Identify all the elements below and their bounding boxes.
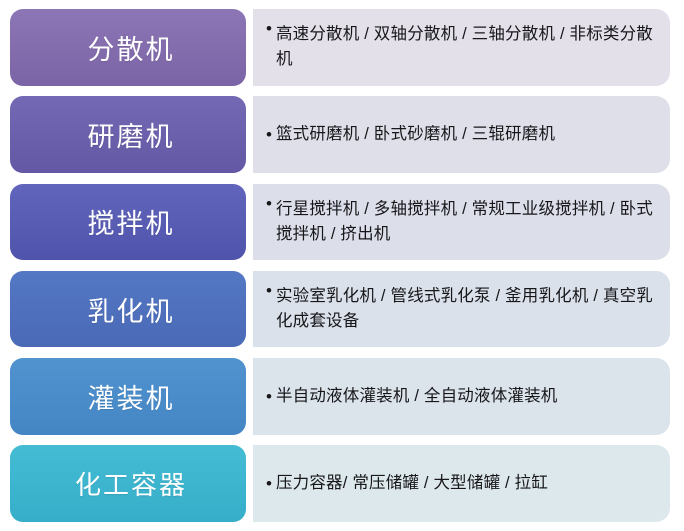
category-label-3: 搅拌机 — [88, 202, 175, 241]
category-label-6: 化工容器 — [75, 465, 187, 502]
row-spacer — [246, 445, 253, 522]
description-panel-3: • 行星搅拌机 / 多轴搅拌机 / 常规工业级搅拌机 / 卧式搅拌机 / 挤出机 — [253, 184, 670, 261]
row-spacer — [246, 184, 253, 261]
description-text-5: 半自动液体灌装机 / 全自动液体灌装机 — [276, 384, 656, 409]
description-text-3: 行星搅拌机 / 多轴搅拌机 / 常规工业级搅拌机 / 卧式搅拌机 / 挤出机 — [276, 197, 656, 247]
description-panel-4: • 实验室乳化机 / 管线式乳化泵 / 釜用乳化机 / 真空乳化成套设备 — [253, 271, 670, 348]
row-spacer — [246, 9, 253, 86]
category-row: 化工容器 • 压力容器/ 常压储罐 / 大型储罐 / 拉缸 — [10, 445, 670, 522]
category-row: 灌装机 • 半自动液体灌装机 / 全自动液体灌装机 — [10, 358, 670, 435]
row-spacer — [246, 96, 253, 173]
category-label-4: 乳化机 — [88, 290, 175, 329]
category-pill-4[interactable]: 乳化机 — [10, 271, 246, 348]
row-spacer — [246, 358, 253, 435]
category-label-2: 研磨机 — [88, 115, 175, 154]
bullet-icon: • — [266, 20, 276, 37]
description-panel-2: • 篮式研磨机 / 卧式砂磨机 / 三辊研磨机 — [253, 96, 670, 173]
description-panel-1: • 高速分散机 / 双轴分散机 / 三轴分散机 / 非标类分散机 — [253, 9, 670, 86]
category-row: 乳化机 • 实验室乳化机 / 管线式乳化泵 / 釜用乳化机 / 真空乳化成套设备 — [10, 271, 670, 348]
bullet-icon: • — [266, 282, 276, 299]
category-pill-5[interactable]: 灌装机 — [10, 358, 246, 435]
category-label-1: 分散机 — [88, 28, 175, 67]
category-row: 分散机 • 高速分散机 / 双轴分散机 / 三轴分散机 / 非标类分散机 — [10, 9, 670, 86]
category-pill-3[interactable]: 搅拌机 — [10, 184, 246, 261]
description-text-6: 压力容器/ 常压储罐 / 大型储罐 / 拉缸 — [276, 471, 656, 496]
description-text-2: 篮式研磨机 / 卧式砂磨机 / 三辊研磨机 — [276, 122, 656, 147]
category-pill-6[interactable]: 化工容器 — [10, 445, 246, 522]
category-row: 研磨机 • 篮式研磨机 / 卧式砂磨机 / 三辊研磨机 — [10, 96, 670, 173]
description-panel-6: • 压力容器/ 常压储罐 / 大型储罐 / 拉缸 — [253, 445, 670, 522]
category-row: 搅拌机 • 行星搅拌机 / 多轴搅拌机 / 常规工业级搅拌机 / 卧式搅拌机 /… — [10, 184, 670, 261]
category-label-5: 灌装机 — [88, 377, 175, 416]
category-board: 分散机 • 高速分散机 / 双轴分散机 / 三轴分散机 / 非标类分散机 研磨机… — [0, 0, 684, 531]
description-text-1: 高速分散机 / 双轴分散机 / 三轴分散机 / 非标类分散机 — [276, 22, 656, 72]
bullet-icon: • — [266, 475, 276, 492]
category-pill-1[interactable]: 分散机 — [10, 9, 246, 86]
bullet-icon: • — [266, 126, 276, 143]
description-panel-5: • 半自动液体灌装机 / 全自动液体灌装机 — [253, 358, 670, 435]
bullet-icon: • — [266, 195, 276, 212]
description-text-4: 实验室乳化机 / 管线式乳化泵 / 釜用乳化机 / 真空乳化成套设备 — [276, 284, 656, 334]
category-pill-2[interactable]: 研磨机 — [10, 96, 246, 173]
row-spacer — [246, 271, 253, 348]
bullet-icon: • — [266, 388, 276, 405]
